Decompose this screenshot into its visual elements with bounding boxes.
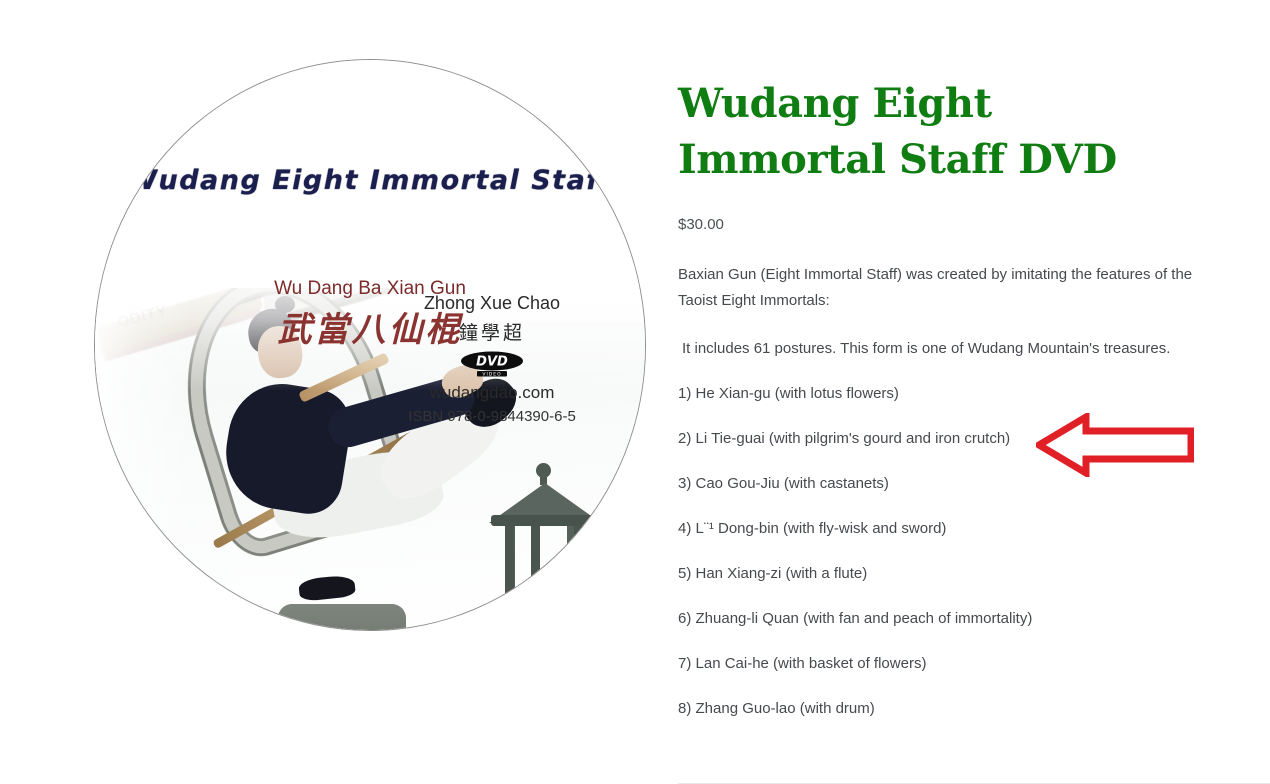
- product-price: $30.00: [678, 188, 1238, 233]
- product-image[interactable]: ODITY: [0, 0, 660, 784]
- svg-text:VIDEO: VIDEO: [482, 372, 501, 378]
- disc-title: Wudang Eight Immortal Staff: [95, 165, 645, 196]
- shoe-planted: [298, 574, 356, 602]
- immortal-item-6: 6) Zhuang-li Quan (with fan and peach of…: [678, 584, 1238, 629]
- postures-note: It includes 61 postures. This form is on…: [678, 314, 1238, 359]
- svg-text:DVD: DVD: [476, 355, 508, 370]
- dvd-disc-artwork[interactable]: ODITY: [94, 59, 646, 631]
- immortal-item-5: 5) Han Xiang-zi (with a flute): [678, 539, 1238, 584]
- page-title: Wudang Eight Immortal Staff DVD: [678, 0, 1118, 188]
- pagoda-finial: [536, 463, 551, 478]
- stone-pedestal: [278, 604, 406, 631]
- pagoda-roof-band: [491, 515, 599, 526]
- pagoda-body: [505, 526, 583, 606]
- dvd-video-logo-icon: DVD VIDEO: [460, 351, 524, 378]
- immortal-item-7: 7) Lan Cai-he (with basket of flowers): [678, 629, 1238, 674]
- isbn-number: ISBN 978-0-9844390-6-5: [377, 408, 607, 425]
- annotation-arrow-left-icon: [1036, 413, 1194, 477]
- product-description: Baxian Gun (Eight Immortal Staff) was cr…: [678, 233, 1223, 314]
- pagoda-post-left: [505, 526, 514, 613]
- immortal-item-8: 8) Zhang Guo-lao (with drum): [678, 674, 1238, 719]
- pagoda: [489, 463, 601, 613]
- immortal-item-1: 1) He Xian-gu (with lotus flowers): [678, 359, 1238, 404]
- immortal-item-4: 4) L¨¹ Dong-bin (with fly-wisk and sword…: [678, 494, 1238, 539]
- pagoda-post-right: [574, 526, 583, 613]
- pagoda-post-mid: [531, 526, 540, 613]
- product-details-column: Wudang Eight Immortal Staff DVD $30.00 B…: [678, 0, 1238, 784]
- disc-center-hub: [296, 271, 444, 419]
